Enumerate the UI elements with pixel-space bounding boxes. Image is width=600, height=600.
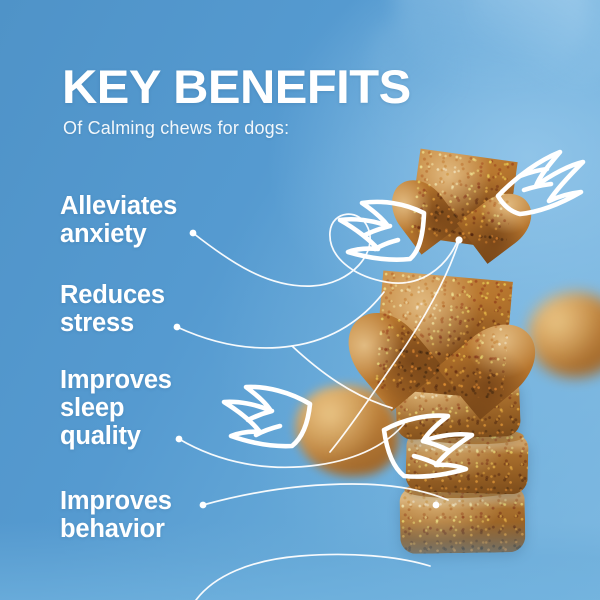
connector-dot-bottom-chew	[433, 502, 440, 509]
benefit-item-sleep: Improves sleep quality	[60, 366, 172, 450]
connector-dot-top-chew	[455, 236, 462, 243]
connector-dot-anxiety	[190, 230, 197, 237]
connector-path-stress-tail	[292, 346, 392, 408]
connector-path-bottom-sweep	[196, 554, 430, 600]
connector-path-behavior	[203, 484, 448, 505]
poster-canvas: KEY BENEFITS Of Calming chews for dogs: …	[0, 0, 600, 600]
benefit-item-behavior: Improves behavior	[60, 487, 172, 543]
connector-path-stress	[177, 292, 384, 348]
benefit-item-anxiety: Alleviates anxiety	[60, 192, 177, 248]
connector-dot-sleep	[176, 436, 183, 443]
connector-path-anxiety	[193, 214, 458, 286]
connector-path-sleep	[179, 424, 404, 467]
connector-dot-stress	[174, 324, 181, 331]
page-subtitle: Of Calming chews for dogs:	[63, 118, 289, 139]
connector-dot-behavior	[200, 502, 207, 509]
benefit-item-stress: Reduces stress	[60, 281, 165, 337]
page-title: KEY BENEFITS	[62, 63, 411, 110]
